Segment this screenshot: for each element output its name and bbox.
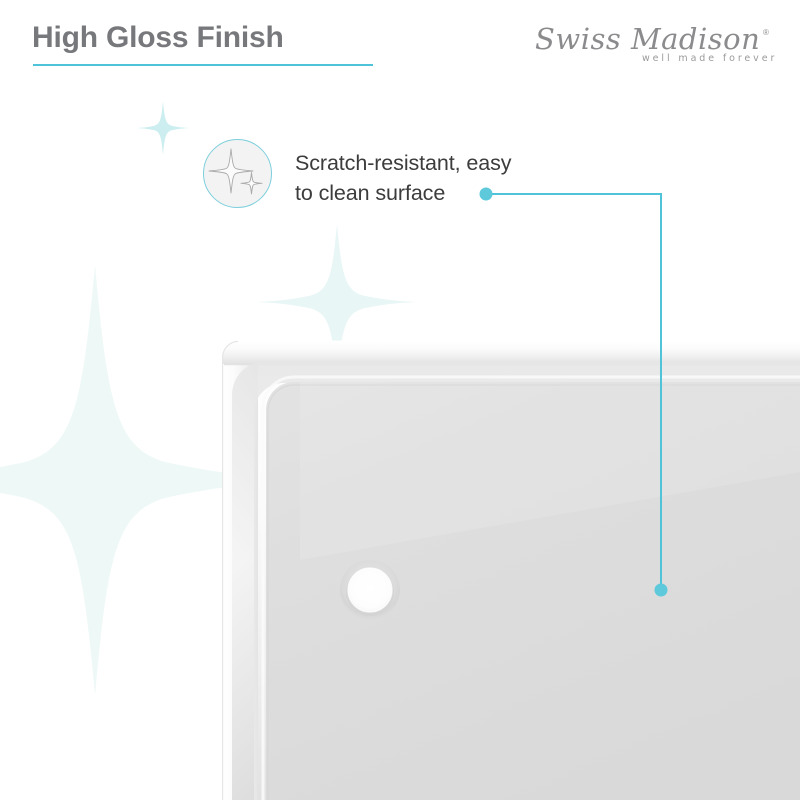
- sparkle-shine-icon: [204, 140, 270, 206]
- sparkle-large-glyph: [209, 149, 253, 193]
- overlay-ui: High Gloss Finish Swiss Madison ® well m…: [0, 0, 800, 800]
- feature-badge: [203, 139, 272, 208]
- sparkle-small-glyph: [241, 173, 262, 195]
- callout-line-1: Scratch-resistant, easy: [295, 148, 511, 178]
- callout-connector: [0, 0, 800, 800]
- connector-end-dot: [655, 584, 668, 597]
- callout-text: Scratch-resistant, easy to clean surface: [295, 148, 511, 208]
- callout-line-2: to clean surface: [295, 178, 511, 208]
- product-feature-image: High Gloss Finish Swiss Madison ® well m…: [0, 0, 800, 800]
- connector-path: [492, 194, 661, 584]
